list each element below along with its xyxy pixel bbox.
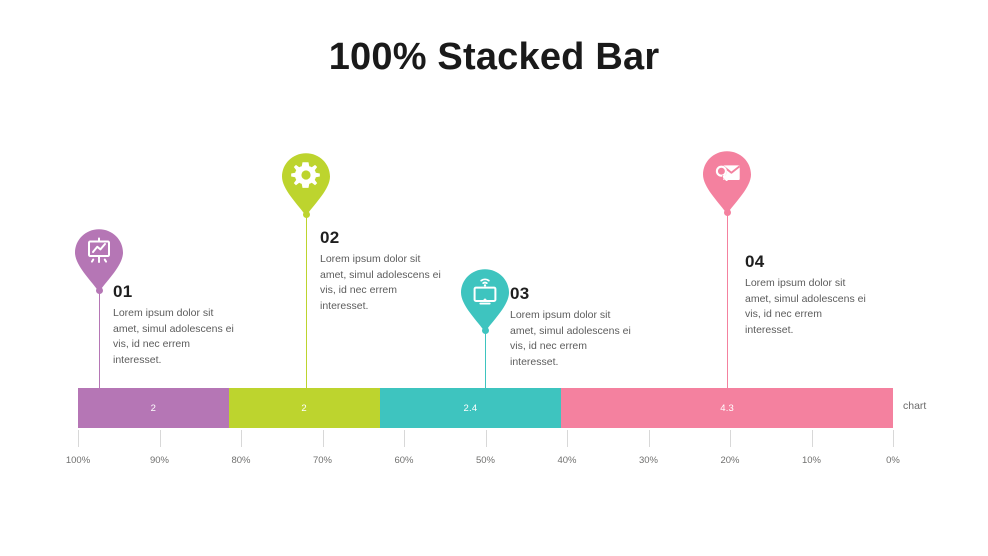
axis-tick-label: 20% [720,455,739,466]
marker-description: Lorem ipsum dolor sit amet, simul adoles… [745,276,869,338]
stacked-bar-chart: 222.44.3 [78,388,893,428]
marker-number: 04 [745,252,869,272]
page-title: 100% Stacked Bar [0,36,988,79]
marker-connector-line [485,330,486,388]
marker-description: Lorem ipsum dolor sit amet, simul adoles… [320,252,444,314]
axis-tick-mark [893,430,894,447]
axis-tick-mark [404,430,405,447]
gear-icon[interactable] [280,152,332,204]
bar-segment-value: 2 [151,403,156,414]
monitor-wifi-icon[interactable] [459,268,511,320]
marker-description: Lorem ipsum dolor sit amet, simul adoles… [113,306,237,368]
axis-tick-mark [812,430,813,447]
axis-tick-label: 50% [476,455,495,466]
bar-segment[interactable]: 4.3 [561,388,893,428]
axis-tick-mark [567,430,568,447]
marker-callout: 02Lorem ipsum dolor sit amet, simul adol… [320,228,444,314]
axis-tick-label: 90% [150,455,169,466]
axis-tick-label: 60% [394,455,413,466]
axis-tick-label: 100% [66,455,90,466]
bar-segment[interactable]: 2.4 [380,388,562,428]
marker-connector-line [306,214,307,388]
axis-tick-label: 70% [313,455,332,466]
axis-tick-mark [649,430,650,447]
marker-callout: 03Lorem ipsum dolor sit amet, simul adol… [510,284,634,370]
bar-segment-value: 4.3 [720,403,734,414]
axis-tick-label: 30% [639,455,658,466]
slide-canvas: 100% Stacked Bar 222.44.3 chart 100%90%8… [0,0,988,556]
axis-tick-mark [730,430,731,447]
bar-segment-value: 2.4 [464,403,478,414]
axis-tick-label: 0% [886,455,900,466]
marker-callout: 01Lorem ipsum dolor sit amet, simul adol… [113,282,237,368]
axis-tick-mark [241,430,242,447]
axis-tick-mark [78,430,79,447]
marker-description: Lorem ipsum dolor sit amet, simul adoles… [510,308,634,370]
presentation-chart-icon[interactable] [73,228,125,280]
axis-tick-label: 10% [802,455,821,466]
series-label: chart [903,400,926,412]
mail-search-icon[interactable] [701,150,753,202]
marker-connector-line [727,212,728,388]
axis-tick-mark [486,430,487,447]
marker-number: 03 [510,284,634,304]
bar-segment-value: 2 [301,403,306,414]
axis-tick-mark [323,430,324,447]
axis-tick-label: 40% [557,455,576,466]
marker-connector-line [99,290,100,388]
bar-segment[interactable]: 2 [229,388,380,428]
marker-number: 01 [113,282,237,302]
bar-segment[interactable]: 2 [78,388,229,428]
marker-number: 02 [320,228,444,248]
axis-tick-mark [160,430,161,447]
axis-tick-label: 80% [231,455,250,466]
marker-callout: 04Lorem ipsum dolor sit amet, simul adol… [745,252,869,338]
